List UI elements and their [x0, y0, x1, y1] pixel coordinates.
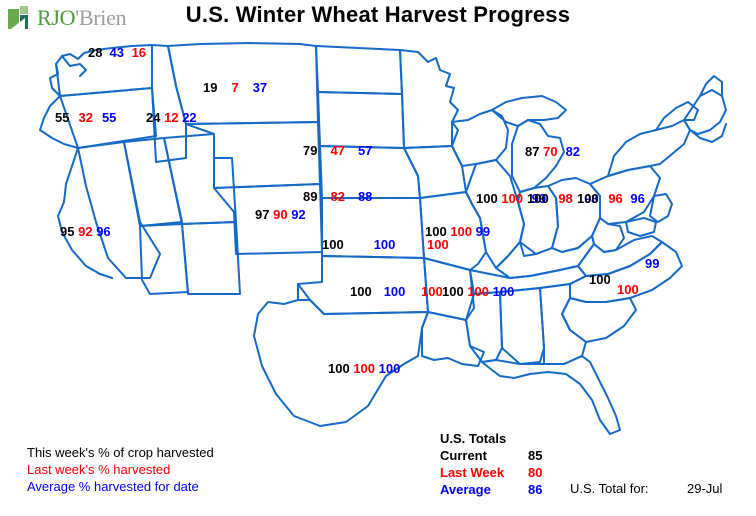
ok-current: 100	[350, 284, 372, 299]
nc-average: 99	[645, 256, 659, 271]
us-total-for-label: U.S. Total for:	[570, 481, 649, 496]
co-last-week: 90	[273, 207, 287, 222]
in-last-week: 98	[558, 191, 572, 206]
sd-current: 79	[303, 143, 317, 158]
ne-average: 88	[358, 189, 372, 204]
tx-average: 100	[379, 361, 401, 376]
mi-average: 82	[566, 144, 580, 159]
ks-average: 100	[374, 237, 396, 252]
state-values-co: 97 90 92	[255, 207, 306, 222]
ca-last-week: 92	[78, 222, 92, 241]
oh-average: 96	[630, 191, 644, 206]
us-totals-last-week-value: 80	[528, 464, 568, 481]
page-title: U.S. Winter Wheat Harvest Progress	[0, 2, 756, 28]
us-totals-average-label: Average	[440, 481, 528, 498]
mi-current: 87	[525, 144, 539, 159]
state-values-or: 553255	[55, 110, 116, 125]
or-average: 55	[102, 110, 116, 125]
oh-current: 100	[577, 191, 599, 206]
mo-average: 99	[476, 224, 490, 239]
state-values-nc-average: 99	[645, 256, 659, 271]
sd-last-week: 47	[330, 143, 344, 158]
state-values-oh: 100 96 96	[577, 191, 645, 206]
state-values-wa: 2843 16	[88, 45, 146, 60]
or-current: 55	[55, 110, 69, 125]
or-last-week: 32	[78, 110, 92, 125]
legend-last-week-label: Last week's % harvested	[27, 461, 214, 478]
ks-last-week: 100	[427, 237, 449, 252]
mt-current: 19	[203, 80, 217, 95]
co-current: 97	[255, 207, 269, 222]
us-totals-average-value: 86	[528, 481, 568, 498]
id-current: 24	[146, 110, 160, 125]
nc-current: 100	[589, 272, 611, 287]
state-values-sd: 794757	[303, 143, 372, 158]
harvest-progress-map-page: RJO'Brien U.S. Winter Wheat Harvest Prog…	[0, 0, 756, 516]
tx-last-week: 100	[353, 361, 375, 376]
us-totals-current-label: Current	[440, 447, 528, 464]
mo-last-week: 100	[450, 224, 472, 239]
wa-current: 28	[88, 45, 102, 60]
state-values-ne: 898288	[303, 189, 372, 204]
tx-current: 100	[328, 361, 350, 376]
il-last-week: 100	[501, 191, 523, 206]
oh-last-week: 96	[608, 191, 622, 206]
ne-current: 89	[303, 189, 317, 204]
mt-average: 37	[253, 80, 267, 95]
us-total-for-date: 29-Jul	[687, 481, 722, 496]
sd-average: 57	[358, 143, 372, 158]
ca-average: 96	[96, 222, 110, 241]
ar-current: 100	[442, 284, 464, 299]
state-values-mi: 87 7082	[522, 144, 580, 159]
state-values-ca: 95 92 96	[60, 222, 111, 241]
mt-last-week: 7	[231, 80, 238, 95]
state-values-mo: 100 100 99	[425, 224, 490, 239]
ks-current: 100	[322, 237, 344, 252]
legend: This week's % of crop harvested Last wee…	[27, 444, 214, 495]
state-values-tx: 100 100 100	[328, 361, 400, 376]
state-values-id: 24 12 22	[146, 110, 197, 125]
mi-last-week: 70	[543, 144, 557, 159]
wa-average: 43	[109, 45, 123, 60]
id-average: 22	[182, 110, 196, 125]
ne-last-week: 82	[330, 189, 344, 204]
state-values-ks: 100100 100	[322, 237, 449, 252]
us-totals-current-value: 85	[528, 447, 568, 464]
id-last-week: 12	[164, 110, 178, 125]
state-values-ok: 100100 100	[350, 284, 443, 299]
nc-last-week: 100	[617, 282, 639, 297]
co-average: 92	[291, 207, 305, 222]
state-values-nc-current: 100	[589, 272, 611, 287]
il-current: 100	[476, 191, 498, 206]
mo-current: 100	[425, 224, 447, 239]
state-values-nc-last-week: 100	[617, 282, 639, 297]
ca-current: 95	[60, 222, 74, 241]
us-totals-last-week-label: Last Week	[440, 464, 528, 481]
us-totals-panel: U.S. Totals Current 85 Last Week 80 Aver…	[440, 430, 568, 498]
us-totals-heading: U.S. Totals	[440, 430, 528, 447]
legend-average-label: Average % harvested for date	[27, 478, 214, 495]
ar-last-week: 100	[467, 284, 489, 299]
wa-last-week: 16	[132, 45, 146, 60]
ok-last-week: 100	[421, 284, 443, 299]
state-values-ar: 100 100 100	[442, 284, 514, 299]
ar-average: 100	[493, 284, 515, 299]
legend-current-label: This week's % of crop harvested	[27, 444, 214, 461]
in-current: 100	[527, 191, 549, 206]
state-values-mt: 19737	[203, 80, 267, 95]
ok-average: 100	[384, 284, 406, 299]
